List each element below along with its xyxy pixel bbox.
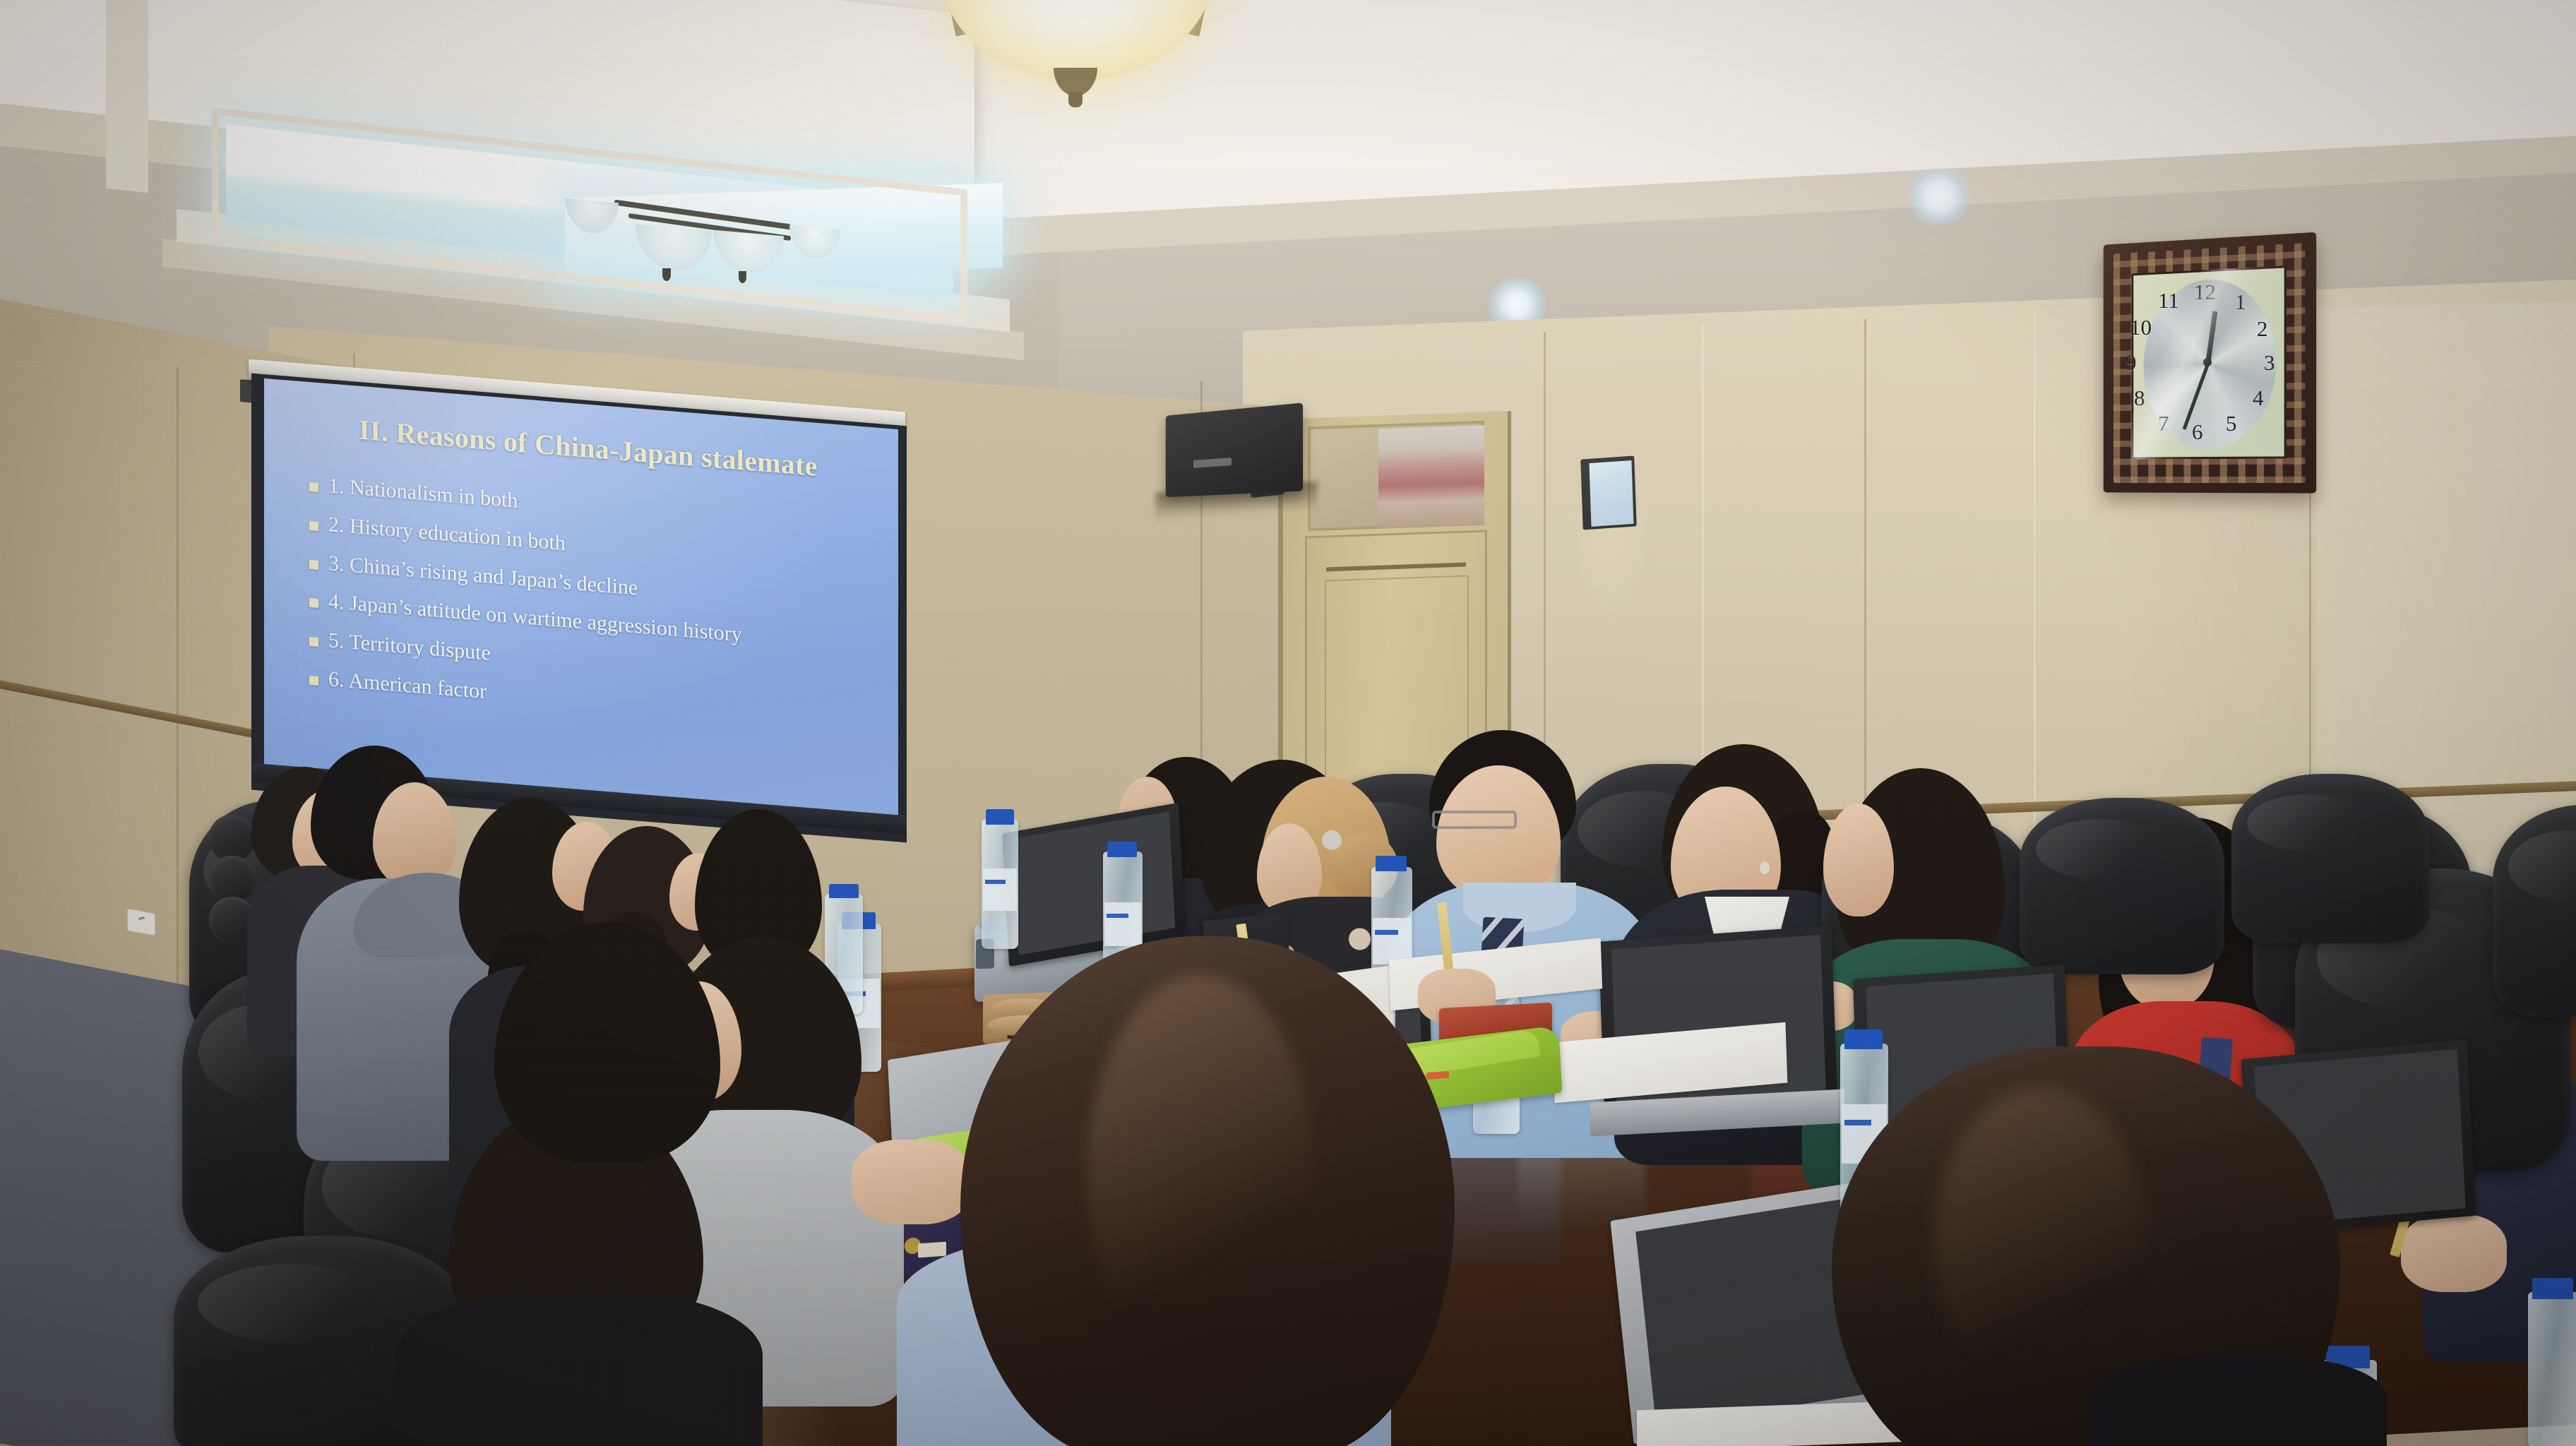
slide-item-text: 6. American factor xyxy=(328,668,487,703)
wall-seam-2 xyxy=(1702,325,1704,819)
person-hand xyxy=(852,1140,972,1224)
wall-sconce-glass xyxy=(1589,460,1633,527)
clock-numeral-6: 6 xyxy=(2192,421,2203,443)
square-bullet-icon xyxy=(309,560,318,570)
pouch-tag xyxy=(918,1242,946,1258)
bottle-label xyxy=(1104,902,1141,946)
door-transom-glass xyxy=(1378,425,1484,527)
wall-seam-4 xyxy=(2034,313,2036,836)
hair-highlight xyxy=(1087,974,1313,1370)
bottle-label xyxy=(1373,918,1411,964)
clock-numeral-8: 8 xyxy=(2134,387,2145,409)
slide-item-text: 3. China’s rising and Japan’s decline xyxy=(328,552,638,599)
water-bottle[interactable] xyxy=(2528,1292,2576,1446)
chair[interactable] xyxy=(2231,774,2429,943)
clock-numeral-10: 10 xyxy=(2130,316,2152,338)
chandelier-finial-1 xyxy=(662,268,671,281)
hair-tie xyxy=(1322,830,1342,850)
clock-center-pin xyxy=(2203,358,2212,366)
hair-highlight xyxy=(1935,1087,2147,1398)
square-bullet-icon xyxy=(309,482,318,492)
person-torso xyxy=(395,1292,763,1446)
bottle-label xyxy=(983,868,1017,911)
slide-item-text: 1. Nationalism in both xyxy=(328,474,518,512)
clock-numeral-5: 5 xyxy=(2226,412,2237,434)
clock-numeral-7: 7 xyxy=(2158,412,2169,434)
chair-tuft xyxy=(209,815,256,861)
clock-numeral-2: 2 xyxy=(2257,318,2268,340)
wall-outlet xyxy=(127,908,155,936)
clock-numeral-4: 4 xyxy=(2253,387,2264,409)
wall-seam-3 xyxy=(1864,319,1866,827)
slide-item-text: 5. Territory dispute xyxy=(328,629,491,664)
person-torso xyxy=(2090,1356,2387,1446)
bottle-cap xyxy=(829,884,859,898)
chair-tuft xyxy=(209,856,256,902)
wall-speaker xyxy=(1166,402,1303,497)
square-bullet-icon xyxy=(309,676,318,686)
cove-recess-light-inner xyxy=(565,183,1003,283)
bottle-cap xyxy=(986,809,1014,825)
earring xyxy=(1760,861,1770,874)
square-bullet-icon xyxy=(309,637,318,647)
glasses-icon xyxy=(1432,811,1517,829)
clock-numeral-12: 12 xyxy=(2194,281,2216,303)
dome-lamp-finial-tip xyxy=(1068,92,1083,107)
person-hand xyxy=(2401,1214,2507,1292)
downlight-2 xyxy=(1902,168,1976,225)
ceiling-beam-left-edge xyxy=(106,0,148,193)
bottle-cap xyxy=(1844,1029,1883,1049)
slide-item-text: 2. History education in both xyxy=(328,513,566,555)
chair[interactable] xyxy=(2020,798,2224,974)
square-bullet-icon xyxy=(309,598,318,608)
clock-numeral-1: 1 xyxy=(2235,291,2246,313)
wall-seam-1 xyxy=(1544,332,1546,798)
square-bullet-icon xyxy=(309,521,318,531)
conference-room-photo: 12 1 2 3 4 5 6 7 8 9 10 11 II. Reasons o… xyxy=(0,0,2576,1446)
clock-numeral-11: 11 xyxy=(2158,289,2179,311)
bottle-cap xyxy=(1107,842,1137,857)
clock-numeral-3: 3 xyxy=(2264,352,2275,374)
bottle-cap xyxy=(1376,856,1407,871)
wall-seam-7 xyxy=(177,367,179,1003)
chandelier-finial-2 xyxy=(739,271,746,283)
clock-numeral-9: 9 xyxy=(2125,352,2137,374)
bottle-cap xyxy=(2532,1278,2573,1299)
